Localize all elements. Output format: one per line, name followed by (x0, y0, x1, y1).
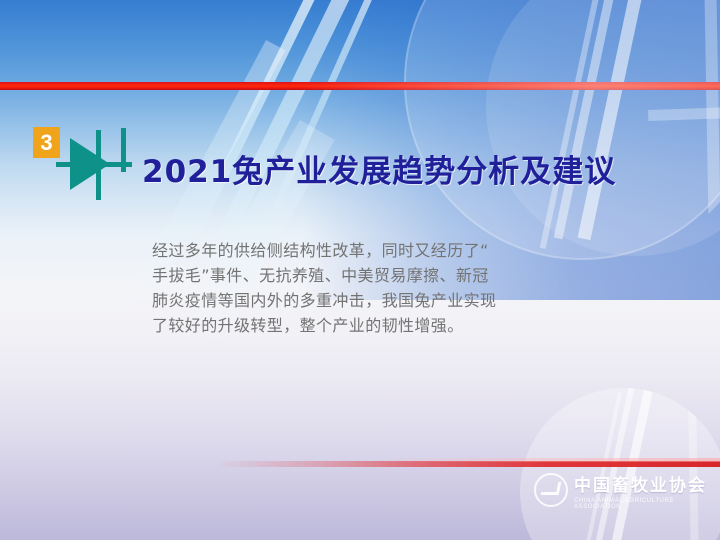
association-name-cn: 中国畜牧业协会 (574, 471, 716, 496)
body-line: 肺炎疫情等国内外的多重冲击，我国兔产业实现 (152, 288, 504, 313)
bottom-red-rule-highlight (380, 458, 720, 462)
body-line: 经过多年的供给侧结构性改革，同时又经历了“ (152, 238, 504, 263)
association-emblem-icon (534, 473, 568, 507)
arrow-crosshair-icon (56, 128, 132, 200)
association-logo: 中国畜牧业协会 CHINA ANIMAL AGRICULTURE ASSOCIA… (534, 468, 716, 512)
association-logo-text: 中国畜牧业协会 CHINA ANIMAL AGRICULTURE ASSOCIA… (574, 471, 716, 510)
page-title: 2021兔产业发展趋势分析及建议 (142, 146, 616, 191)
association-name-en: CHINA ANIMAL AGRICULTURE ASSOCIATION (574, 498, 716, 510)
slide-canvas: 3 2021兔产业发展趋势分析及建议 经过多年的供给侧结构性改革，同时又经历了“… (0, 0, 720, 540)
body-line: 手拔毛”事件、无抗养殖、中美贸易摩擦、新冠 (152, 263, 504, 288)
body-paragraph: 经过多年的供给侧结构性改革，同时又经历了“ 手拔毛”事件、无抗养殖、中美贸易摩擦… (152, 238, 504, 338)
top-red-rule-highlight (300, 82, 720, 90)
body-line: 了较好的升级转型，整个产业的韧性增强。 (152, 313, 504, 338)
